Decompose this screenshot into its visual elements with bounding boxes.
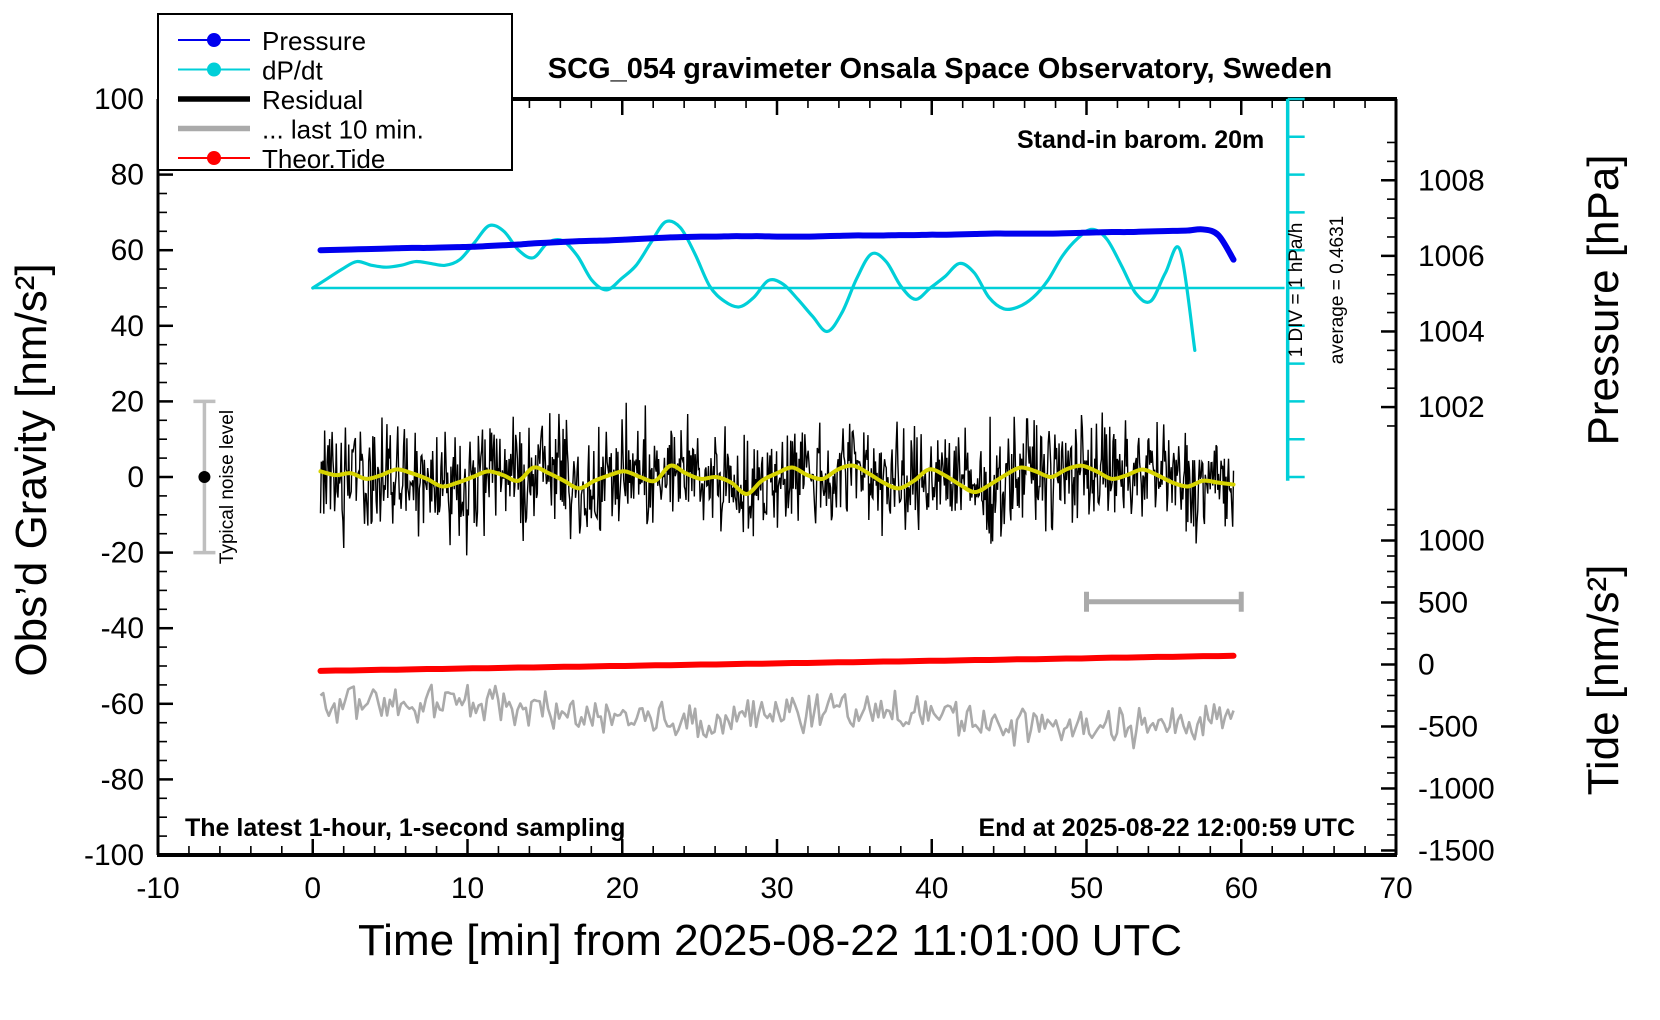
x-tick-label: -10 [136,872,179,905]
y-axis-title-right-tide: Tide [nm/s²] [1579,565,1628,796]
end-time-annotation: End at 2025-08-22 12:00:59 UTC [978,814,1355,842]
right-pressure-tick-label: 1002 [1418,391,1485,424]
right-pressure-tick-label: 1006 [1418,240,1485,273]
legend-swatch-dot [207,33,221,47]
x-tick-label: 50 [1070,872,1103,905]
y-tick-label: -80 [101,763,144,796]
right-tide-tick-label: 1000 [1418,525,1485,558]
x-tick-label: 20 [606,872,639,905]
x-axis-title: Time [min] from 2025-08-22 11:01:00 UTC [358,916,1182,965]
right-pressure-tick-label: 1004 [1418,315,1485,348]
gravimeter-timeseries-chart: -10010203040506070 -100-80-60-40-2002040… [0,0,1660,1020]
y-tick-label: 60 [111,234,144,267]
y-tick-label: 40 [111,310,144,343]
x-tick-label: 10 [451,872,484,905]
y-tick-label: 0 [127,461,144,494]
y-tick-label: -60 [101,688,144,721]
x-tick-label: 40 [915,872,948,905]
right-tide-tick-label: -1000 [1418,772,1495,805]
legend-item-label: dP/dt [262,56,323,86]
x-tick-label: 30 [760,872,793,905]
chart-title: SCG_054 gravimeter Onsala Space Observat… [548,53,1332,85]
legend-item-label: Theor.Tide [262,144,385,174]
right-tide-tick-label: -1500 [1418,834,1495,867]
legend[interactable]: PressuredP/dtResidual... last 10 min.The… [158,14,512,174]
stand-in-barom-annotation: Stand-in barom. 20m [1017,126,1264,154]
right-tide-tick-label: 500 [1418,586,1468,619]
right-tide-tick-label: -500 [1418,710,1478,743]
y-tick-label: -40 [101,612,144,645]
average-annotation: average = 0.4631 [1327,216,1348,364]
x-tick-label: 60 [1225,872,1258,905]
legend-item-label: Residual [262,85,363,115]
y-tick-label: 20 [111,385,144,418]
y-tick-label: -100 [84,839,144,872]
right-pressure-tick-label: 1008 [1418,164,1485,197]
div-scale-annotation: 1 DIV = 1 hPa/h [1286,223,1307,358]
x-tick-label: 70 [1379,872,1412,905]
sampling-annotation: The latest 1-hour, 1-second sampling [185,814,625,842]
chart-root: -10010203040506070 -100-80-60-40-2002040… [0,0,1660,1020]
y-tick-label: -20 [101,537,144,570]
legend-item-label: ... last 10 min. [262,115,424,145]
legend-item-label: Pressure [262,26,366,56]
y-tick-label: 80 [111,159,144,192]
typical-noise-level-label: Typical noise level [217,410,238,564]
y-axis-title-left: Obs’d Gravity [nm/s²] [7,263,56,676]
legend-swatch-dot [207,63,221,77]
right-tide-tick-label: 0 [1418,648,1435,681]
noise-bar-center-dot [198,471,210,483]
y-tick-label: 100 [94,83,144,116]
y-axis-title-right-pressure: Pressure [hPa] [1579,154,1628,445]
x-tick-label: 0 [304,872,321,905]
legend-swatch-dot [207,151,221,165]
